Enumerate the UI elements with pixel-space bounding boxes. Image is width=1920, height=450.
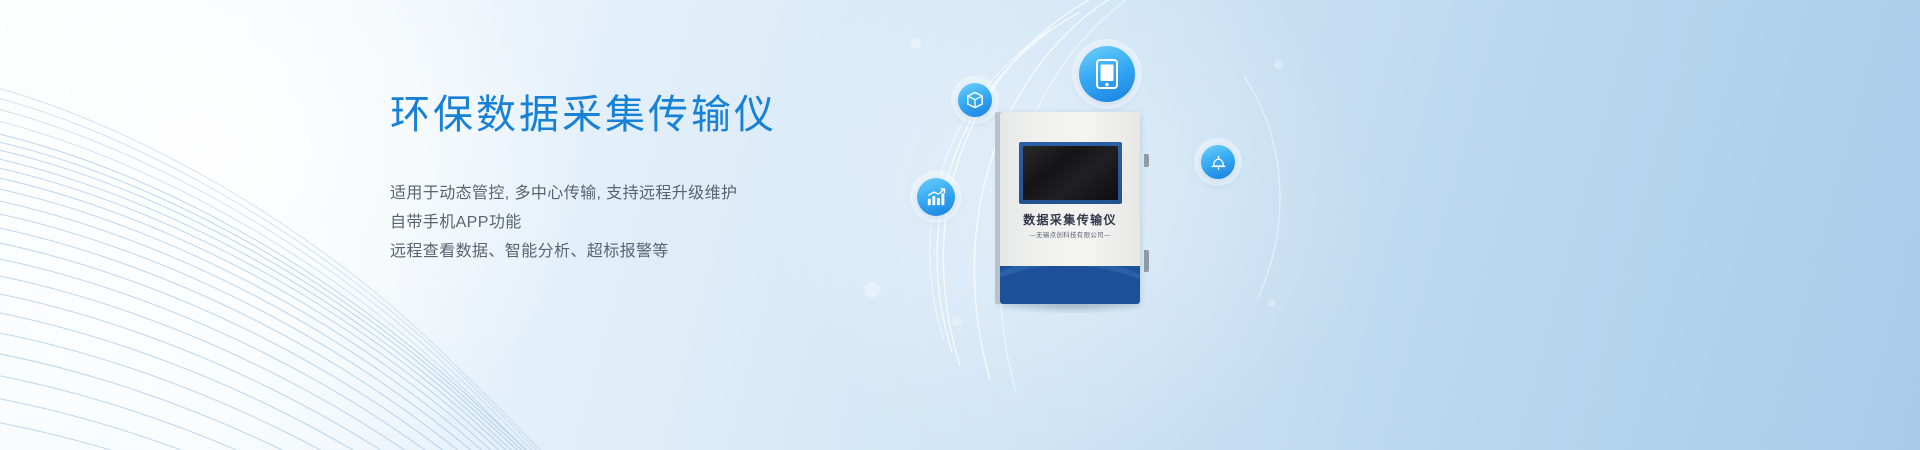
description-line-2: 自带手机APP功能 bbox=[390, 208, 950, 237]
device-company-label: —无锡点创科技有限公司— bbox=[1000, 229, 1140, 239]
feature-mobile-app[interactable] bbox=[1079, 46, 1135, 102]
mobile-phone-icon bbox=[1096, 59, 1118, 89]
decorative-bubble bbox=[910, 38, 921, 49]
device-label: 数据采集传输仪 bbox=[1000, 211, 1140, 228]
cube-box-icon bbox=[966, 91, 984, 109]
description-line-3: 远程查看数据、智能分析、超标报警等 bbox=[390, 237, 950, 266]
feature-analytics[interactable] bbox=[917, 178, 955, 216]
device-screen bbox=[1023, 146, 1118, 200]
decorative-bubble bbox=[1268, 300, 1275, 307]
feature-alarm[interactable] bbox=[1201, 145, 1235, 179]
device-body: 数据采集传输仪 —无锡点创科技有限公司— bbox=[1000, 112, 1140, 304]
product-hero-banner: 环保数据采集传输仪 适用于动态管控, 多中心传输, 支持远程升级维护 自带手机A… bbox=[0, 0, 1920, 450]
device-connector-top bbox=[1144, 154, 1149, 167]
hero-description: 适用于动态管控, 多中心传输, 支持远程升级维护 自带手机APP功能 远程查看数… bbox=[390, 179, 950, 266]
bar-chart-icon bbox=[926, 187, 946, 207]
alarm-bell-icon bbox=[1210, 154, 1227, 171]
description-line-1: 适用于动态管控, 多中心传输, 支持远程升级维护 bbox=[390, 179, 950, 208]
device-connector-bottom bbox=[1144, 250, 1149, 272]
page-title: 环保数据采集传输仪 bbox=[390, 93, 950, 137]
decorative-bubble bbox=[952, 316, 962, 326]
feature-module[interactable] bbox=[958, 83, 992, 117]
decorative-bubble bbox=[864, 282, 880, 298]
hero-copy: 环保数据采集传输仪 适用于动态管控, 多中心传输, 支持远程升级维护 自带手机A… bbox=[390, 93, 950, 266]
device-base-panel bbox=[1000, 266, 1140, 304]
decorative-bubble bbox=[1274, 60, 1283, 69]
device-screen-bezel bbox=[1019, 142, 1122, 204]
product-device-image: 数据采集传输仪 —无锡点创科技有限公司— bbox=[995, 112, 1145, 307]
